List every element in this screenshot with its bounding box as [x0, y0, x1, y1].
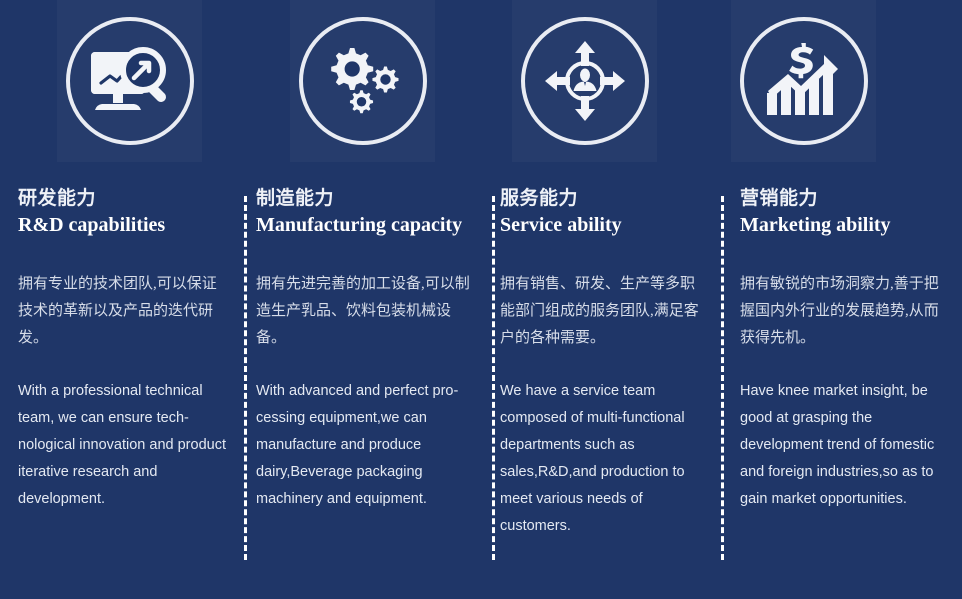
column-body-cn: 拥有专业的技术团队,可以保证技术的革新以及产品的迭代研发。 [18, 271, 230, 352]
column-title-en: R&D capabilities [18, 212, 230, 239]
icon-panel-manufacturing [290, 0, 435, 162]
icon-band [0, 0, 962, 175]
feature-column-manufacturing: 制造能力 Manufacturing capacity 拥有先进完善的加工设备,… [256, 186, 478, 513]
feature-column-rnd: 研发能力 R&D capabilities 拥有专业的技术团队,可以保证技术的革… [18, 186, 230, 513]
column-title-cn: 制造能力 [256, 186, 478, 212]
column-body-en: With advanced and perfect pro- cessing e… [256, 378, 478, 513]
monitor-analysis-icon [66, 17, 194, 145]
person-four-arrows-icon [521, 17, 649, 145]
column-body-cn: 拥有销售、研发、生产等多职能部门组成的服务团队,满足客户的各种需要。 [500, 271, 708, 352]
column-title-en: Service ability [500, 212, 708, 239]
column-divider-2 [492, 196, 495, 560]
icon-panel-marketing [731, 0, 876, 162]
column-body-en: Have knee market insight, be good at gra… [740, 378, 948, 513]
feature-column-service: 服务能力 Service ability 拥有销售、研发、生产等多职能部门组成的… [500, 186, 708, 540]
column-title-en: Marketing ability [740, 212, 948, 239]
growth-chart-dollar-icon [740, 17, 868, 145]
icon-panel-rnd [57, 0, 202, 162]
column-divider-3 [721, 196, 724, 560]
column-title-cn: 营销能力 [740, 186, 948, 212]
gears-icon [299, 17, 427, 145]
column-title-cn: 服务能力 [500, 186, 708, 212]
column-title-en: Manufacturing capacity [256, 212, 478, 239]
column-title-cn: 研发能力 [18, 186, 230, 212]
column-body-cn: 拥有敏锐的市场洞察力,善于把握国内外行业的发展趋势,从而获得先机。 [740, 271, 948, 352]
icon-panel-service [512, 0, 657, 162]
feature-column-marketing: 营销能力 Marketing ability 拥有敏锐的市场洞察力,善于把握国内… [740, 186, 948, 513]
column-body-en: With a professional technical team, we c… [18, 378, 230, 513]
column-divider-1 [244, 196, 247, 560]
column-body-en: We have a service team composed of multi… [500, 378, 708, 540]
column-body-cn: 拥有先进完善的加工设备,可以制造生产乳品、饮料包装机械设备。 [256, 271, 478, 352]
